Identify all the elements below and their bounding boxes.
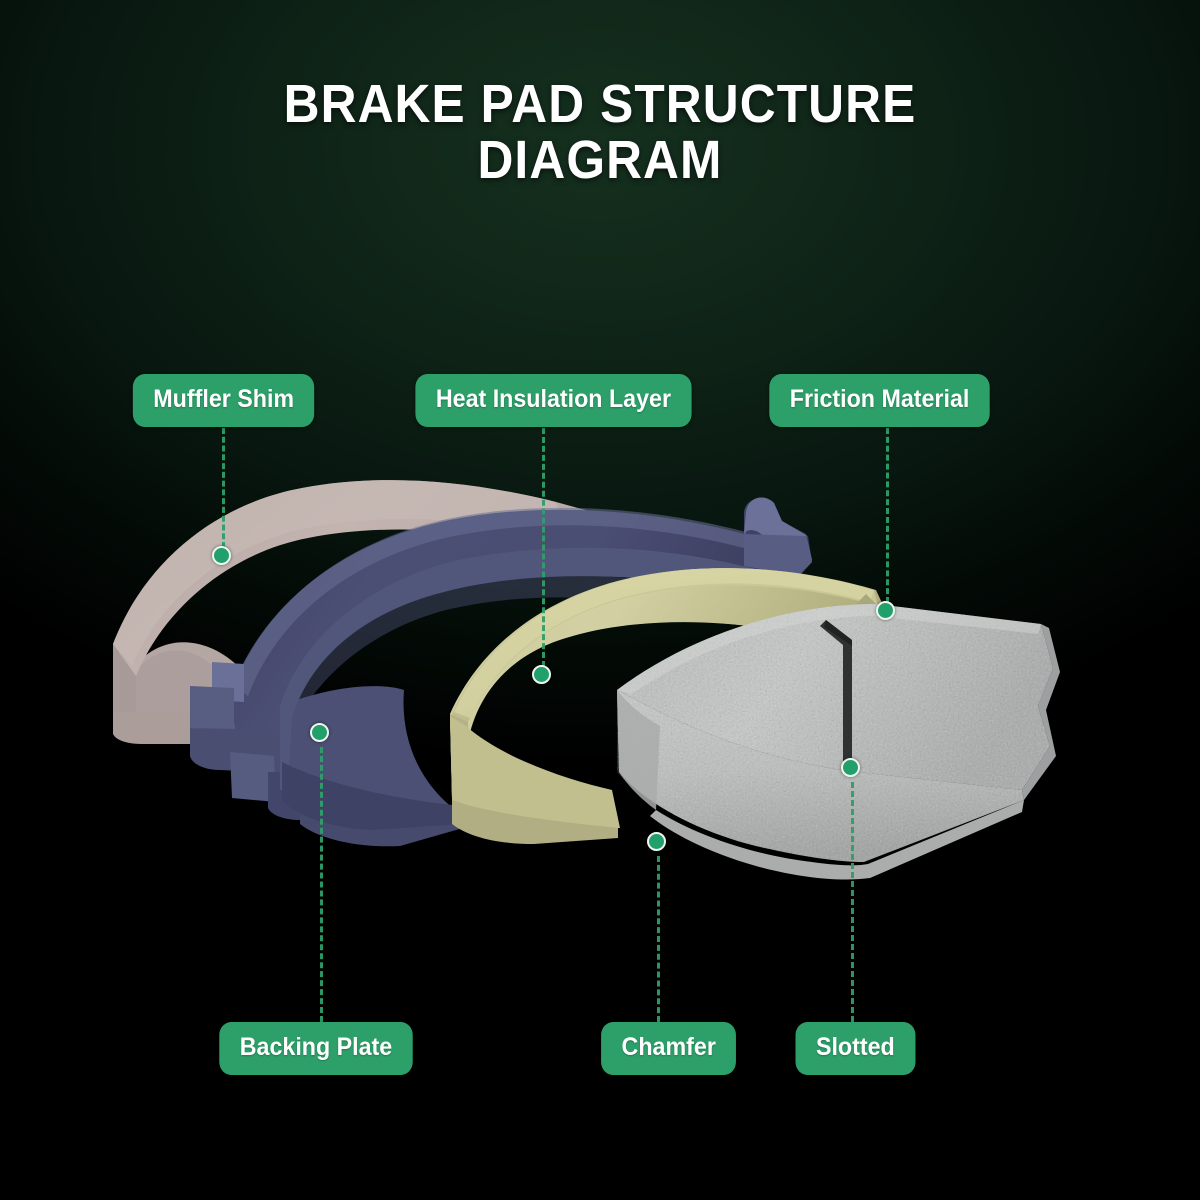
brake-pad-illustration <box>0 0 1200 1200</box>
leader-line-muffler-shim <box>222 428 225 548</box>
callout-dot-slotted[interactable] <box>841 758 860 777</box>
callout-dot-heat-insulation[interactable] <box>532 665 551 684</box>
callout-dot-backing-plate[interactable] <box>310 723 329 742</box>
callout-dot-chamfer[interactable] <box>647 832 666 851</box>
label-backing-plate[interactable]: Backing Plate <box>219 1022 412 1075</box>
leader-line-backing-plate <box>320 747 323 1022</box>
label-heat-insulation[interactable]: Heat Insulation Layer <box>415 374 691 427</box>
leader-line-heat-insulation <box>542 428 545 667</box>
leader-line-slotted <box>851 782 854 1022</box>
label-friction-material[interactable]: Friction Material <box>769 374 989 427</box>
label-slotted[interactable]: Slotted <box>796 1022 916 1075</box>
leader-line-chamfer <box>657 856 660 1022</box>
callout-dot-muffler-shim[interactable] <box>212 546 231 565</box>
label-chamfer[interactable]: Chamfer <box>601 1022 736 1075</box>
leader-line-friction-material <box>886 428 889 603</box>
label-muffler-shim[interactable]: Muffler Shim <box>133 374 315 427</box>
diagram-canvas: BRAKE PAD STRUCTURE DIAGRAM <box>0 0 1200 1200</box>
callout-dot-friction-material[interactable] <box>876 601 895 620</box>
